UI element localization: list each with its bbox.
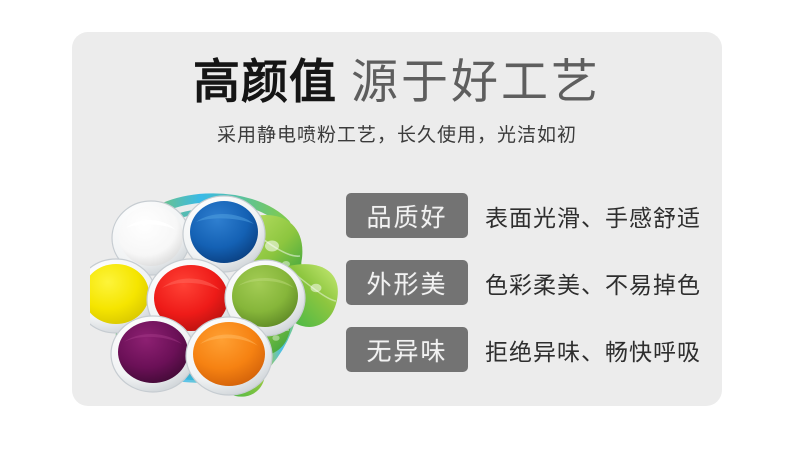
feature-desc-odorless: 拒绝异味、畅快呼吸 bbox=[485, 333, 701, 367]
feature-badge-appearance: 外形美 bbox=[346, 260, 468, 305]
feature-badge-odorless: 无异味 bbox=[346, 327, 468, 372]
feature-row: 外形美 色彩柔美、不易掉色 bbox=[346, 260, 722, 305]
purple-powder-bowl bbox=[111, 316, 195, 392]
feature-desc-quality: 表面光滑、手感舒适 bbox=[485, 199, 701, 233]
screenshot-canvas: 高颜值源于好工艺 采用静电喷粉工艺，长久使用，光洁如初 bbox=[0, 0, 800, 450]
feature-row: 无异味 拒绝异味、畅快呼吸 bbox=[346, 327, 722, 372]
title-light: 源于好工艺 bbox=[351, 55, 601, 108]
feature-row: 品质好 表面光滑、手感舒适 bbox=[346, 193, 722, 238]
title-strong: 高颜值 bbox=[193, 55, 337, 108]
content-card: 高颜值源于好工艺 采用静电喷粉工艺，长久使用，光洁如初 bbox=[72, 32, 722, 406]
feature-desc-appearance: 色彩柔美、不易掉色 bbox=[485, 266, 701, 300]
powder-samples-photo bbox=[90, 172, 340, 402]
orange-powder-bowl bbox=[186, 317, 272, 395]
page-subtitle: 采用静电喷粉工艺，长久使用，光洁如初 bbox=[72, 120, 722, 147]
feature-list: 品质好 表面光滑、手感舒适 外形美 色彩柔美、不易掉色 无异味 拒绝异味、畅快呼… bbox=[346, 193, 722, 394]
page-title: 高颜值源于好工艺 bbox=[72, 58, 722, 105]
feature-badge-quality: 品质好 bbox=[346, 193, 468, 238]
